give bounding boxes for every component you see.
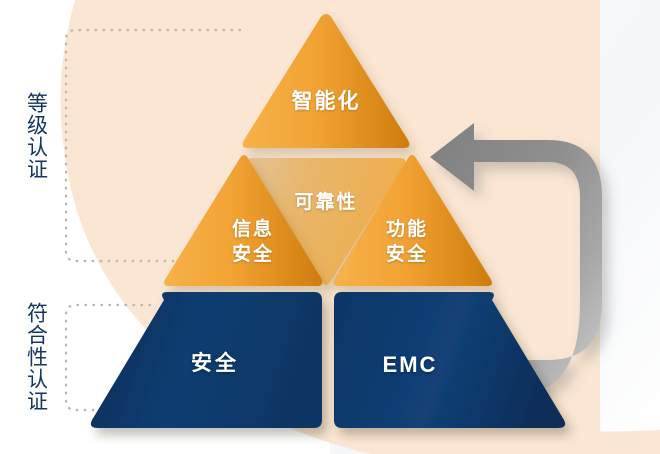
- side-label-compliance-certification: 符合性认证: [24, 302, 48, 412]
- diagram-canvas: 智能化 可靠性 信息 安全 功能 安全 安全 EMC 等级认证 符合性认证: [0, 0, 660, 454]
- tile-emc[interactable]: [334, 292, 565, 428]
- pyramid-layer: [0, 0, 660, 454]
- side-label-level-certification: 等级认证: [24, 92, 48, 180]
- tile-intelligent[interactable]: [243, 14, 410, 148]
- tile-safety[interactable]: [91, 292, 322, 428]
